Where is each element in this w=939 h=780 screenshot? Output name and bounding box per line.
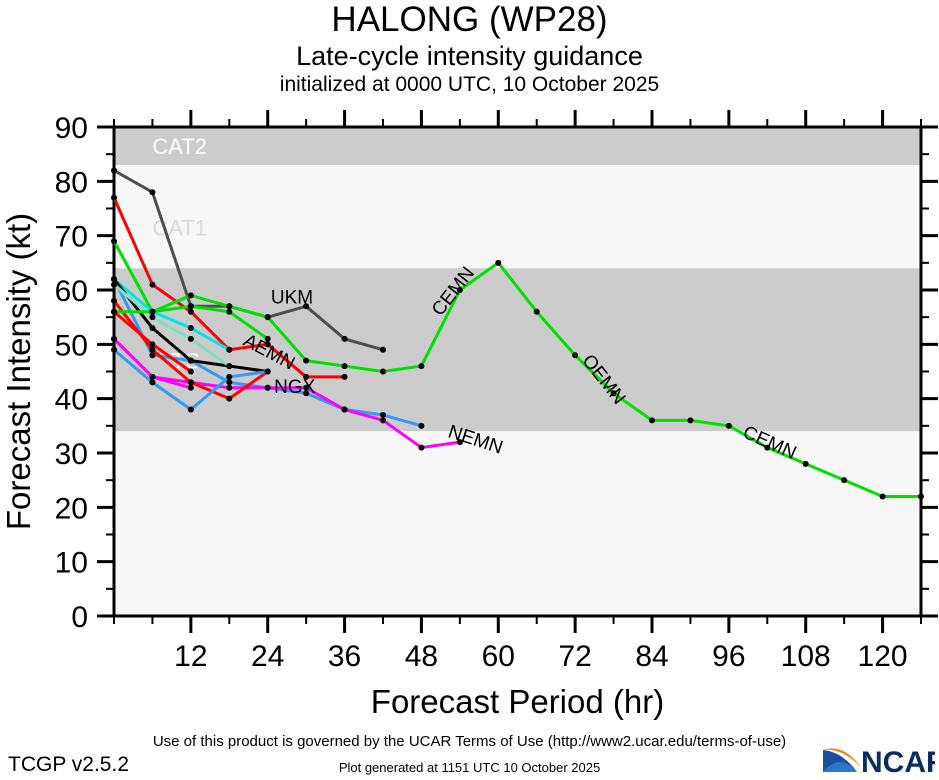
data-point bbox=[149, 314, 155, 320]
data-point bbox=[149, 282, 155, 288]
data-point bbox=[188, 379, 194, 385]
ncar-logo: NCAR bbox=[817, 742, 935, 778]
data-point bbox=[226, 385, 232, 391]
y-axis-title: Forecast Intensity (kt) bbox=[0, 213, 37, 530]
data-point bbox=[841, 477, 847, 483]
data-point bbox=[342, 336, 348, 342]
data-point bbox=[149, 325, 155, 331]
data-point bbox=[188, 292, 194, 298]
data-point bbox=[918, 493, 924, 499]
x-tick-label: 12 bbox=[174, 640, 207, 673]
data-point bbox=[418, 445, 424, 451]
data-point bbox=[418, 363, 424, 369]
x-tick-label: 96 bbox=[712, 640, 745, 673]
data-point bbox=[303, 358, 309, 364]
y-tick-label: 10 bbox=[55, 547, 88, 580]
footer-terms-of-use: Use of this product is governed by the U… bbox=[0, 733, 939, 750]
data-point bbox=[188, 369, 194, 375]
data-point bbox=[226, 379, 232, 385]
x-tick-label: 84 bbox=[635, 640, 668, 673]
data-point bbox=[188, 385, 194, 391]
data-point bbox=[149, 189, 155, 195]
x-tick-label: 60 bbox=[482, 640, 515, 673]
y-tick-label: 40 bbox=[55, 384, 88, 417]
data-point bbox=[149, 374, 155, 380]
x-tick-label: 48 bbox=[405, 640, 438, 673]
data-point bbox=[380, 369, 386, 375]
footer-generated-time: Plot generated at 1151 UTC 10 October 20… bbox=[0, 760, 939, 775]
x-tick-label: 120 bbox=[858, 640, 908, 673]
data-point bbox=[149, 347, 155, 353]
data-point bbox=[188, 336, 194, 342]
x-tick-label: 36 bbox=[328, 640, 361, 673]
data-point bbox=[687, 417, 693, 423]
intensity-guidance-chart: CAT2CAT1TS010203040506070809012243648607… bbox=[0, 0, 939, 730]
data-point bbox=[226, 303, 232, 309]
band-td bbox=[114, 431, 921, 616]
y-tick-label: 90 bbox=[55, 112, 88, 145]
data-point bbox=[111, 195, 117, 201]
data-point bbox=[226, 396, 232, 402]
footer-version: TCGP v2.5.2 bbox=[8, 753, 129, 777]
data-point bbox=[111, 298, 117, 304]
x-tick-label: 72 bbox=[558, 640, 591, 673]
data-point bbox=[342, 374, 348, 380]
x-tick-label: 24 bbox=[251, 640, 284, 673]
data-point bbox=[226, 347, 232, 353]
data-point bbox=[111, 336, 117, 342]
data-point bbox=[149, 352, 155, 358]
data-point bbox=[649, 417, 655, 423]
data-point bbox=[418, 423, 424, 429]
data-point bbox=[534, 309, 540, 315]
data-point bbox=[226, 363, 232, 369]
data-point bbox=[111, 347, 117, 353]
band-cat2 bbox=[114, 127, 921, 165]
data-point bbox=[188, 309, 194, 315]
band-cat1 bbox=[114, 165, 921, 268]
chart-page: HALONG (WP28) Late-cycle intensity guida… bbox=[0, 0, 939, 780]
data-point bbox=[111, 282, 117, 288]
data-point bbox=[342, 407, 348, 413]
y-tick-label: 20 bbox=[55, 492, 88, 525]
data-point bbox=[149, 379, 155, 385]
data-point bbox=[111, 167, 117, 173]
band-label-cat2: CAT2 bbox=[152, 134, 207, 159]
data-point bbox=[265, 314, 271, 320]
data-point bbox=[188, 358, 194, 364]
data-point bbox=[226, 374, 232, 380]
y-tick-label: 80 bbox=[55, 166, 88, 199]
data-point bbox=[726, 423, 732, 429]
data-point bbox=[188, 325, 194, 331]
y-tick-label: 0 bbox=[71, 601, 88, 634]
data-point bbox=[111, 276, 117, 282]
data-point bbox=[111, 309, 117, 315]
series-label-ngx: NGX bbox=[274, 377, 316, 398]
data-point bbox=[803, 461, 809, 467]
data-point bbox=[265, 369, 271, 375]
x-axis-title: Forecast Period (hr) bbox=[371, 683, 664, 720]
data-point bbox=[495, 260, 501, 266]
data-point bbox=[380, 412, 386, 418]
y-tick-label: 50 bbox=[55, 329, 88, 362]
x-tick-label: 108 bbox=[781, 640, 831, 673]
data-point bbox=[880, 493, 886, 499]
y-tick-label: 30 bbox=[55, 438, 88, 471]
y-tick-label: 60 bbox=[55, 275, 88, 308]
data-point bbox=[226, 309, 232, 315]
y-tick-label: 70 bbox=[55, 221, 88, 254]
data-point bbox=[149, 341, 155, 347]
data-point bbox=[188, 303, 194, 309]
data-point bbox=[149, 309, 155, 315]
data-point bbox=[342, 363, 348, 369]
data-point bbox=[111, 238, 117, 244]
data-point bbox=[380, 347, 386, 353]
data-point bbox=[265, 385, 271, 391]
ncar-logo-text: NCAR bbox=[861, 746, 935, 778]
data-point bbox=[380, 417, 386, 423]
series-label-ukm: UKM bbox=[271, 288, 313, 309]
data-point bbox=[572, 352, 578, 358]
data-point bbox=[188, 407, 194, 413]
